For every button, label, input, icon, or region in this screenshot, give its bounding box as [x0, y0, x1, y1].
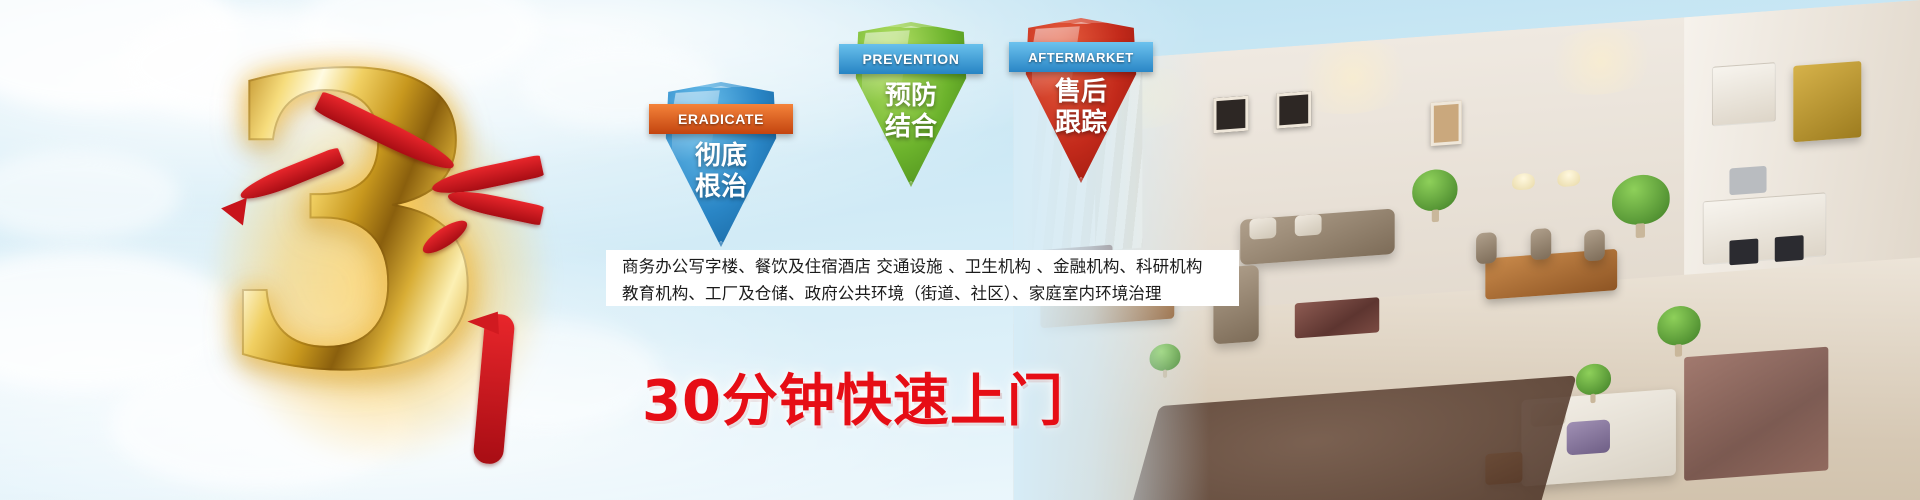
bedroom-floor-accent: [1684, 347, 1828, 481]
shield-sash-label: PREVENTION: [839, 44, 983, 74]
shield-chinese-label: 预防 结合: [851, 80, 971, 141]
cloud-decoration: [0, 150, 180, 240]
shield-chinese-label: 彻底 根治: [661, 140, 781, 201]
pendant-lamp: [1557, 169, 1580, 187]
wall-art: [1213, 96, 1248, 134]
shield-chinese-line-2: 结合: [851, 111, 971, 142]
shield-sash-label: AFTERMARKET: [1009, 42, 1153, 72]
service-scope-panel: 商务办公写字楼、餐饮及住宿酒店 交通设施 、卫生机构 、金融机构、科研机构 教育…: [606, 250, 1239, 306]
shield-chinese-line-2: 跟踪: [1021, 107, 1141, 138]
wall-art: [1276, 91, 1311, 129]
shield-badge-aftermarket[interactable]: AFTERMARKET 售后 跟踪: [1021, 18, 1141, 183]
red-ribbon-end-icon: [219, 194, 247, 225]
shield-chinese-label: 售后 跟踪: [1021, 76, 1141, 137]
dining-chair: [1585, 229, 1606, 261]
pendant-lamp: [1512, 172, 1535, 190]
kitchen-upper-cabinet: [1712, 62, 1776, 126]
shield-chinese-line-1: 彻底: [661, 140, 781, 171]
service-scope-line-1: 商务办公写字楼、餐饮及住宿酒店 交通设施 、卫生机构 、金融机构、科研机构: [606, 253, 1239, 280]
service-promo-banner: 3 ERADICATE 彻底 根治 PREVENTION 预防 结合: [0, 0, 1920, 500]
shield-badge-eradicate[interactable]: ERADICATE 彻底 根治: [661, 82, 781, 247]
kitchen-gold-cabinet: [1793, 61, 1861, 142]
bed-cushion: [1567, 419, 1610, 455]
shield-chinese-line-1: 预防: [851, 80, 971, 111]
dining-chair: [1530, 228, 1551, 260]
shield-chinese-line-2: 根治: [661, 171, 781, 202]
wall-art: [1431, 101, 1462, 147]
dining-chair: [1476, 232, 1497, 264]
golden-three-graphic: 3: [215, 78, 545, 478]
coffee-table: [1295, 297, 1379, 338]
service-scope-line-2: 教育机构、工厂及仓储、政府公共环境（街道、社区）、家庭室内环境治理: [606, 280, 1239, 307]
shield-sash-label: ERADICATE: [649, 104, 793, 134]
headline-text: 30分钟快速上门: [642, 356, 1064, 437]
kitchen-counter: [1702, 192, 1826, 265]
shield-badge-prevention[interactable]: PREVENTION 预防 结合: [851, 22, 971, 187]
shield-chinese-line-1: 售后: [1021, 76, 1141, 107]
